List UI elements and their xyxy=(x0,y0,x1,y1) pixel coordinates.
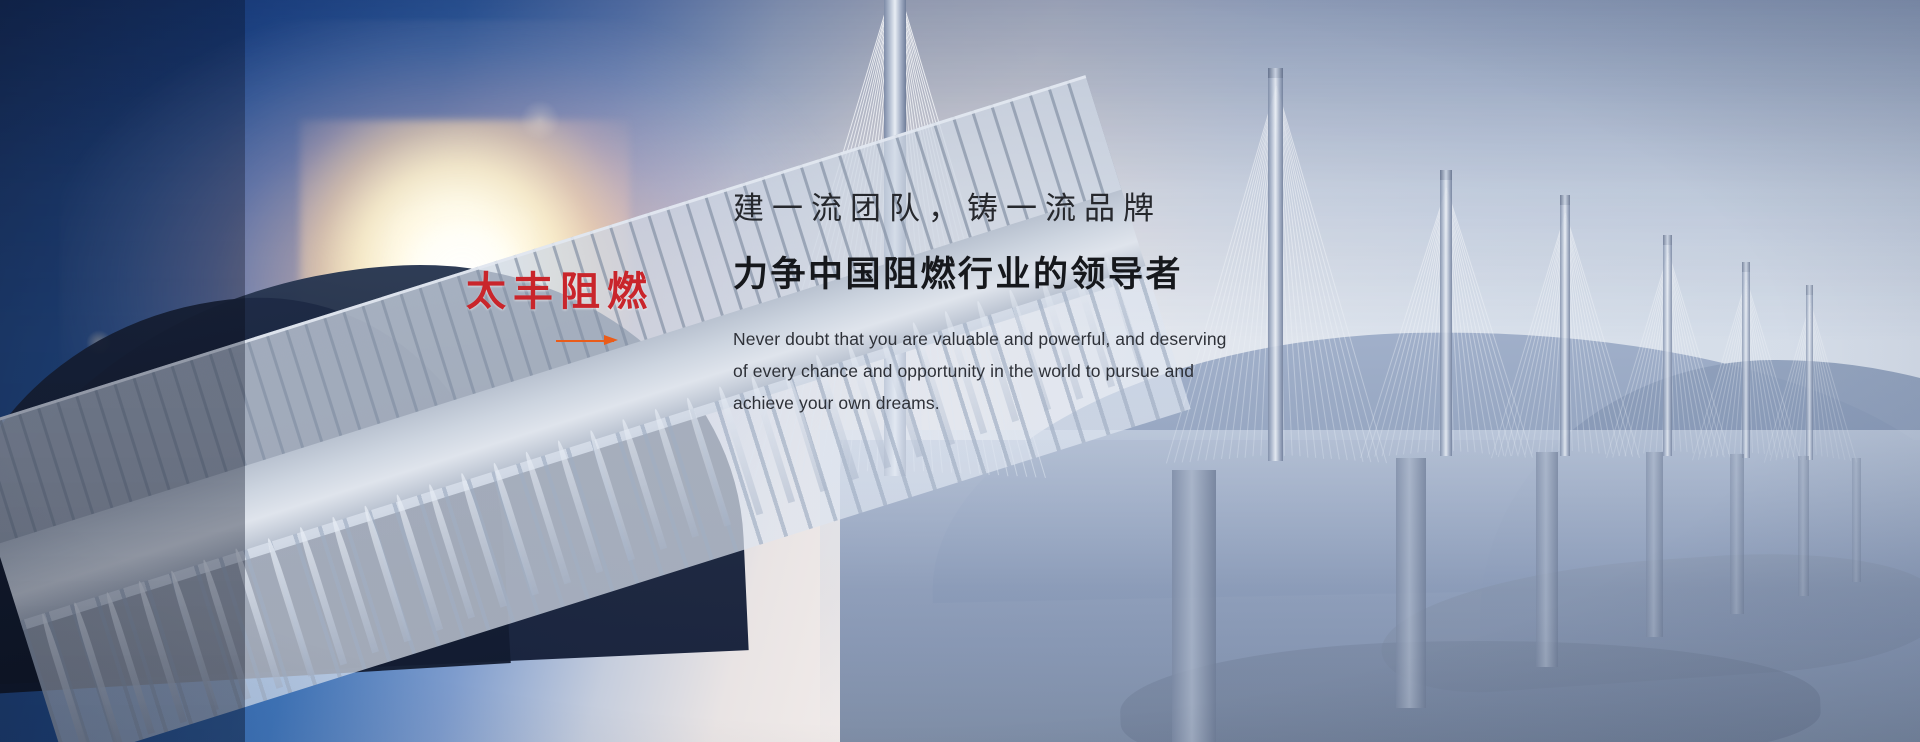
arrow-right-icon xyxy=(556,334,626,348)
hero-paragraph: Never doubt that you are valuable and po… xyxy=(733,324,1433,420)
brand-logo[interactable]: 太丰阻燃 xyxy=(466,272,686,348)
banner-content: 太丰阻燃 建一流团队，铸一流品牌 力争中国阻燃行业的领导者 Never doub… xyxy=(0,0,1920,742)
hero-text-block: 建一流团队，铸一流品牌 力争中国阻燃行业的领导者 Never doubt tha… xyxy=(733,190,1433,420)
brand-logo-text: 太丰阻燃 xyxy=(466,272,686,312)
hero-subheadline: 力争中国阻燃行业的领导者 xyxy=(733,253,1433,299)
hero-headline: 建一流团队，铸一流品牌 xyxy=(733,190,1433,229)
arrow-head xyxy=(604,335,618,345)
hero-paragraph-line: Never doubt that you are valuable and po… xyxy=(733,324,1433,356)
hero-banner: 太丰阻燃 建一流团队，铸一流品牌 力争中国阻燃行业的领导者 Never doub… xyxy=(0,0,1920,742)
hero-paragraph-line: of every chance and opportunity in the w… xyxy=(733,356,1433,388)
hero-paragraph-line: achieve your own dreams. xyxy=(733,388,1433,420)
